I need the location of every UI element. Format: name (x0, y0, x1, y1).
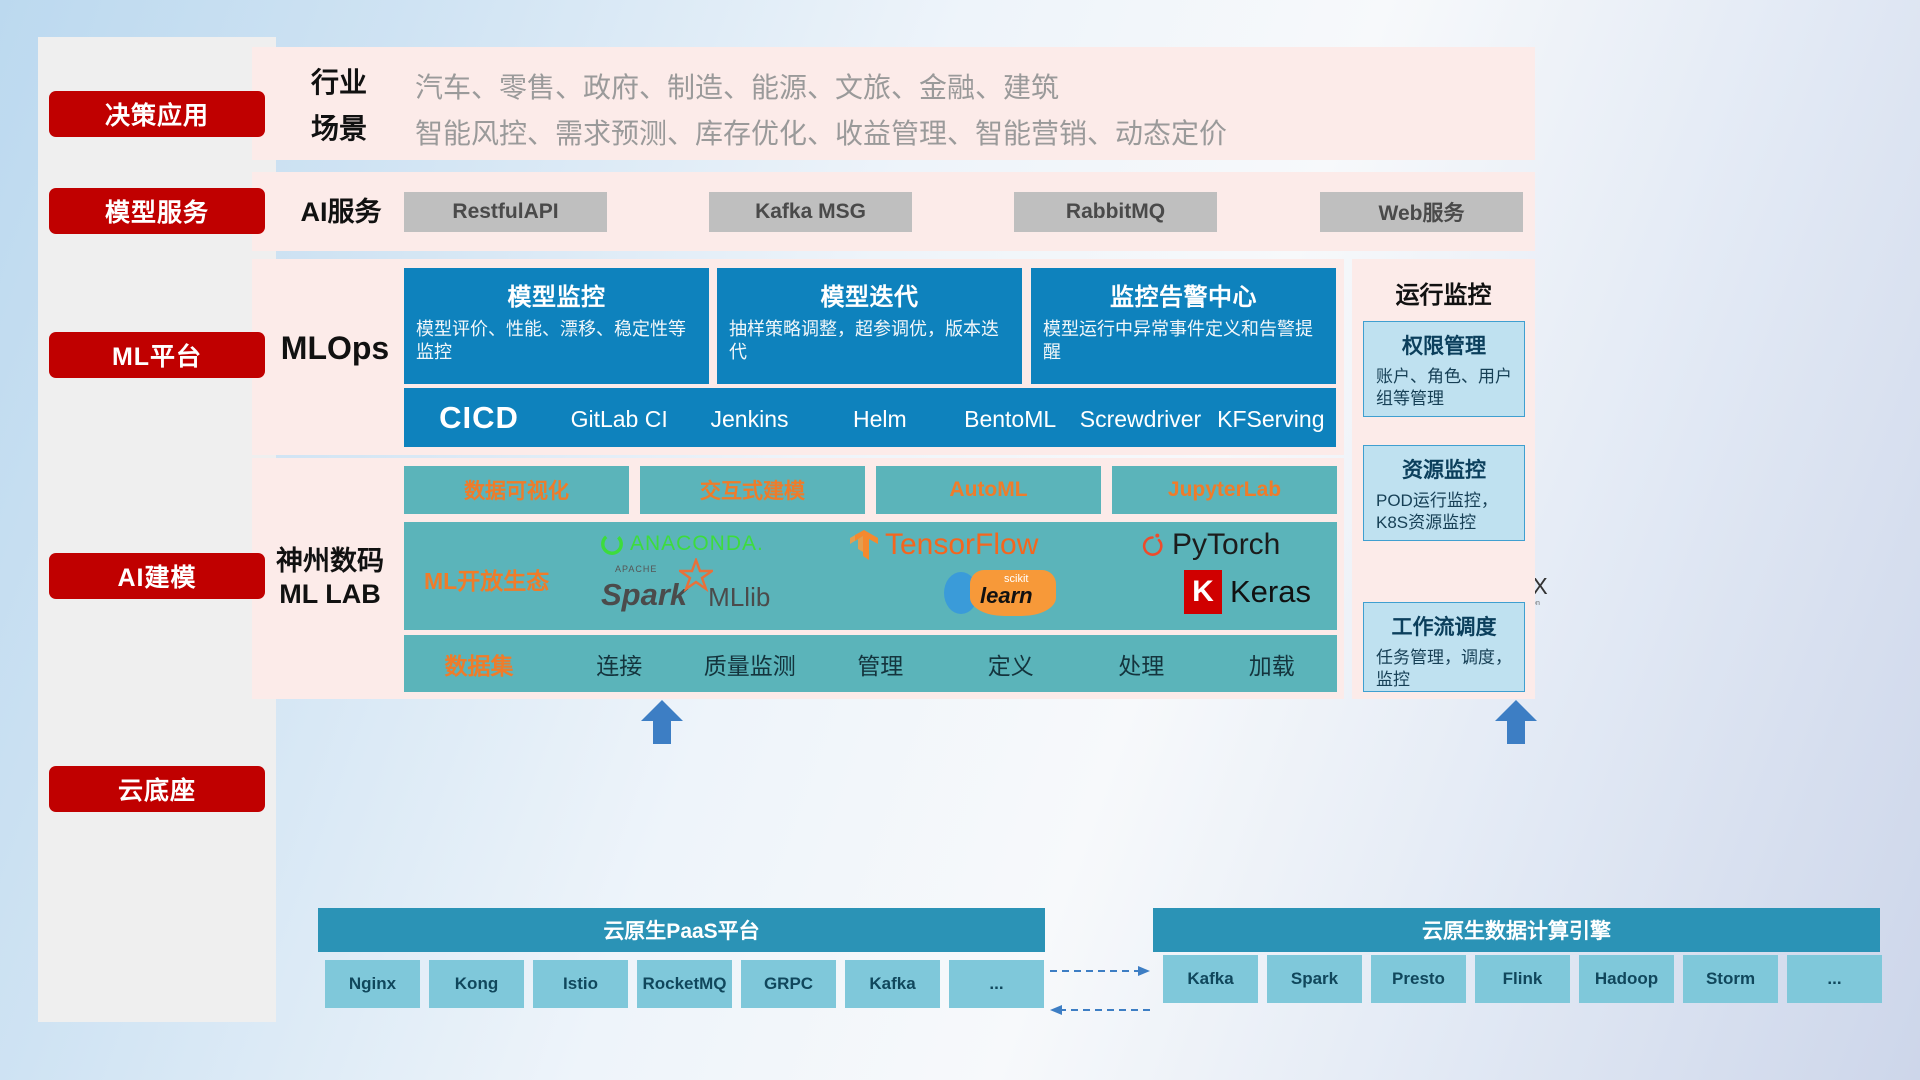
logo-mllib-text: MLlib (708, 582, 770, 613)
ai-service-band: AI服务 RestfulAPI Kafka MSG RabbitMQ Web服务 (252, 172, 1535, 251)
left-rail (38, 37, 276, 1022)
arrow-up-left-icon (641, 700, 683, 744)
arrow-up-right-icon (1495, 700, 1537, 744)
bidirectional-dashed-arrows-icon (1048, 955, 1152, 1025)
cicd-label: CICD (404, 388, 554, 436)
engine-chip-storm[interactable]: Storm (1683, 955, 1778, 1003)
anaconda-icon (599, 531, 625, 557)
chip-label: ... (1827, 969, 1841, 988)
card-title: 模型迭代 (717, 268, 1022, 312)
keras-icon: K (1184, 570, 1222, 614)
dataset-item-load[interactable]: 加载 (1207, 647, 1338, 681)
paas-chip-rocketmq[interactable]: RocketMQ (637, 960, 732, 1008)
cicd-item-screwdriver[interactable]: Screwdriver (1075, 388, 1205, 434)
paas-chip-istio[interactable]: Istio (533, 960, 628, 1008)
chip-label: Istio (563, 974, 598, 993)
ml-ecosystem-label: ML开放生态 (424, 562, 549, 596)
cicd-item-helm[interactable]: Helm (815, 388, 945, 434)
dataset-item-define[interactable]: 定义 (946, 647, 1077, 681)
card-desc: 账户、角色、用户组等管理 (1364, 360, 1524, 410)
cicd-item-kfserving[interactable]: KFServing (1206, 388, 1336, 434)
paas-chip-kong[interactable]: Kong (429, 960, 524, 1008)
card-desc: 任务管理，调度，监控 (1364, 641, 1524, 691)
logo-pytorch: PyTorch (1139, 528, 1280, 562)
ai-service-chip-restfulapi[interactable]: RestfulAPI (404, 192, 607, 232)
ai-modeling-band: 神州数码 ML LAB 数据可视化 交互式建模 AutoML JupyterLa… (252, 458, 1344, 699)
engine-chip-spark[interactable]: Spark (1267, 955, 1362, 1003)
card-desc: POD运行监控，K8S资源监控 (1364, 484, 1524, 534)
mlops-card-model-monitoring[interactable]: 模型监控 模型评价、性能、漂移、稳定性等监控 (404, 268, 709, 384)
paas-chip-nginx[interactable]: Nginx (325, 960, 420, 1008)
mlops-band: MLOps 模型监控 模型评价、性能、漂移、稳定性等监控 模型迭代 抽样策略调整… (252, 259, 1344, 455)
cloud-paas-title: 云原生PaaS平台 (603, 915, 759, 945)
cicd-item-bentoml[interactable]: BentoML (945, 388, 1075, 434)
card-desc: 抽样策略调整，超参调优，版本迭代 (717, 312, 1022, 365)
industry-label: 行业 (274, 67, 404, 99)
logo-spark-badge: APACHE (615, 564, 657, 574)
ml-ecosystem-block: ML开放生态 ANACONDA. TensorFlow (404, 522, 1337, 630)
chip-label: Presto (1392, 969, 1445, 988)
logo-keras: K Keras (1184, 570, 1311, 614)
tool-chip-automl[interactable]: AutoML (876, 466, 1101, 514)
logo-tensorflow: TensorFlow (849, 528, 1038, 562)
side-card-workflow-scheduling[interactable]: 工作流调度 任务管理，调度，监控 (1363, 602, 1525, 692)
runtime-monitoring-band: 运行监控 权限管理 账户、角色、用户组等管理 资源监控 POD运行监控，K8S资… (1352, 259, 1535, 699)
chip-label: JupyterLab (1168, 478, 1281, 502)
chip-label: RabbitMQ (1066, 200, 1165, 224)
engine-chip-flink[interactable]: Flink (1475, 955, 1570, 1003)
dataset-label: 数据集 (404, 647, 554, 681)
cicd-bar: CICD GitLab CI Jenkins Helm BentoML Scre… (404, 388, 1336, 447)
scikit-orange-blob-icon: scikit learn (970, 570, 1056, 616)
dataset-item-connect[interactable]: 连接 (554, 647, 685, 681)
cicd-item-gitlab-ci[interactable]: GitLab CI (554, 388, 684, 434)
engine-chip-kafka[interactable]: Kafka (1163, 955, 1258, 1003)
industry-value: 汽车、零售、政府、制造、能源、文旅、金融、建筑 (415, 66, 1059, 106)
sidebar-item-model-service[interactable]: 模型服务 (49, 188, 265, 234)
ml-lab-label: 神州数码 ML LAB (254, 543, 406, 613)
engine-chip-hadoop[interactable]: Hadoop (1579, 955, 1674, 1003)
paas-chip-kafka[interactable]: Kafka (845, 960, 940, 1008)
cloud-paas-bar[interactable]: 云原生PaaS平台 (318, 908, 1045, 952)
pytorch-icon (1139, 530, 1166, 560)
logo-keras-text: Keras (1230, 574, 1311, 610)
engine-chip-more[interactable]: ... (1787, 955, 1882, 1003)
chip-label: Spark (1291, 969, 1338, 988)
chip-label: Kafka (869, 974, 915, 993)
chip-label: RestfulAPI (452, 200, 558, 224)
paas-chip-grpc[interactable]: GRPC (741, 960, 836, 1008)
card-title: 监控告警中心 (1031, 268, 1336, 312)
chip-label: Kong (455, 974, 498, 993)
tool-chip-jupyterlab[interactable]: JupyterLab (1112, 466, 1337, 514)
logo-anaconda: ANACONDA. (599, 531, 764, 557)
logo-scikit-learn: scikit learn (944, 570, 1056, 616)
engine-chip-presto[interactable]: Presto (1371, 955, 1466, 1003)
logo-learn-text: learn (980, 583, 1033, 609)
chip-label: 交互式建模 (700, 475, 805, 505)
ai-service-chip-rabbitmq[interactable]: RabbitMQ (1014, 192, 1217, 232)
chip-label: Web服务 (1379, 197, 1465, 227)
chip-label: Kafka (1187, 969, 1233, 988)
logo-pytorch-text: PyTorch (1172, 528, 1280, 562)
dataset-item-process[interactable]: 处理 (1076, 647, 1207, 681)
sidebar-item-ml-platform[interactable]: ML平台 (49, 332, 265, 378)
sidebar-item-label: 云底座 (118, 771, 196, 807)
ai-service-chip-kafka-msg[interactable]: Kafka MSG (709, 192, 912, 232)
cloud-data-engine-title: 云原生数据计算引擎 (1422, 915, 1611, 945)
logo-spark-mllib: APACHE Spark MLlib (601, 577, 770, 613)
chip-label: GRPC (764, 974, 813, 993)
dataset-item-quality-monitor[interactable]: 质量监测 (685, 647, 816, 681)
sidebar-item-label: 决策应用 (105, 96, 209, 132)
chip-label: AutoML (949, 478, 1027, 502)
sidebar-item-decision-app[interactable]: 决策应用 (49, 91, 265, 137)
ml-lab-label-line2: ML LAB (279, 578, 381, 611)
card-desc: 模型评价、性能、漂移、稳定性等监控 (404, 312, 709, 365)
cicd-item-jenkins[interactable]: Jenkins (684, 388, 814, 434)
logo-spark-text: Spark (601, 577, 687, 612)
chip-label: 数据可视化 (464, 475, 569, 505)
card-title: 权限管理 (1364, 322, 1524, 360)
ai-service-chip-web-service[interactable]: Web服务 (1320, 192, 1523, 232)
ml-lab-label-line1: 神州数码 (276, 545, 384, 578)
spark-star-icon (679, 558, 713, 592)
chip-label: Nginx (349, 974, 396, 993)
mlops-card-alert-center[interactable]: 监控告警中心 模型运行中异常事件定义和告警提醒 (1031, 268, 1336, 384)
card-title: 模型监控 (404, 268, 709, 312)
runtime-monitoring-title: 运行监控 (1352, 259, 1535, 310)
chip-label: ... (989, 974, 1003, 993)
logo-anaconda-text: ANACONDA. (630, 532, 764, 556)
chip-label: Hadoop (1595, 969, 1658, 988)
side-card-resource-monitoring[interactable]: 资源监控 POD运行监控，K8S资源监控 (1363, 445, 1525, 541)
logo-tensorflow-text: TensorFlow (885, 528, 1038, 562)
architecture-diagram: 决策应用 模型服务 ML平台 AI建模 云底座 行业 汽车、零售、政府、制造、能… (0, 0, 1920, 1080)
cloud-data-engine-bar[interactable]: 云原生数据计算引擎 (1153, 908, 1880, 952)
ai-service-label: AI服务 (266, 194, 416, 230)
sidebar-item-ai-modeling[interactable]: AI建模 (49, 553, 265, 599)
chip-label: Storm (1706, 969, 1755, 988)
paas-chip-more[interactable]: ... (949, 960, 1044, 1008)
logo-keras-badge: K (1192, 575, 1214, 609)
chip-label: Kafka MSG (755, 200, 866, 224)
sidebar-item-label: AI建模 (117, 558, 196, 594)
card-title: 资源监控 (1364, 446, 1524, 484)
sidebar-item-label: 模型服务 (105, 193, 209, 229)
mlops-card-model-iteration[interactable]: 模型迭代 抽样策略调整，超参调优，版本迭代 (717, 268, 1022, 384)
sidebar-item-label: ML平台 (112, 337, 202, 373)
scenario-value: 智能风控、需求预测、库存优化、收益管理、智能营销、动态定价 (415, 112, 1227, 152)
card-desc: 模型运行中异常事件定义和告警提醒 (1031, 312, 1336, 365)
tensorflow-icon (849, 529, 879, 561)
decision-application-band: 行业 汽车、零售、政府、制造、能源、文旅、金融、建筑 场景 智能风控、需求预测、… (252, 47, 1535, 160)
dataset-row: 数据集 连接 质量监测 管理 定义 处理 加载 (404, 635, 1337, 692)
sidebar-item-cloud-base[interactable]: 云底座 (49, 766, 265, 812)
scenario-label: 场景 (274, 113, 404, 145)
dataset-item-manage[interactable]: 管理 (815, 647, 946, 681)
side-card-permission-management[interactable]: 权限管理 账户、角色、用户组等管理 (1363, 321, 1525, 417)
chip-label: Flink (1503, 969, 1543, 988)
tool-chip-interactive-modeling[interactable]: 交互式建模 (640, 466, 865, 514)
card-title: 工作流调度 (1364, 603, 1524, 641)
chip-label: RocketMQ (642, 974, 726, 993)
tool-chip-data-visualization[interactable]: 数据可视化 (404, 466, 629, 514)
mlops-label: MLOps (260, 329, 410, 369)
